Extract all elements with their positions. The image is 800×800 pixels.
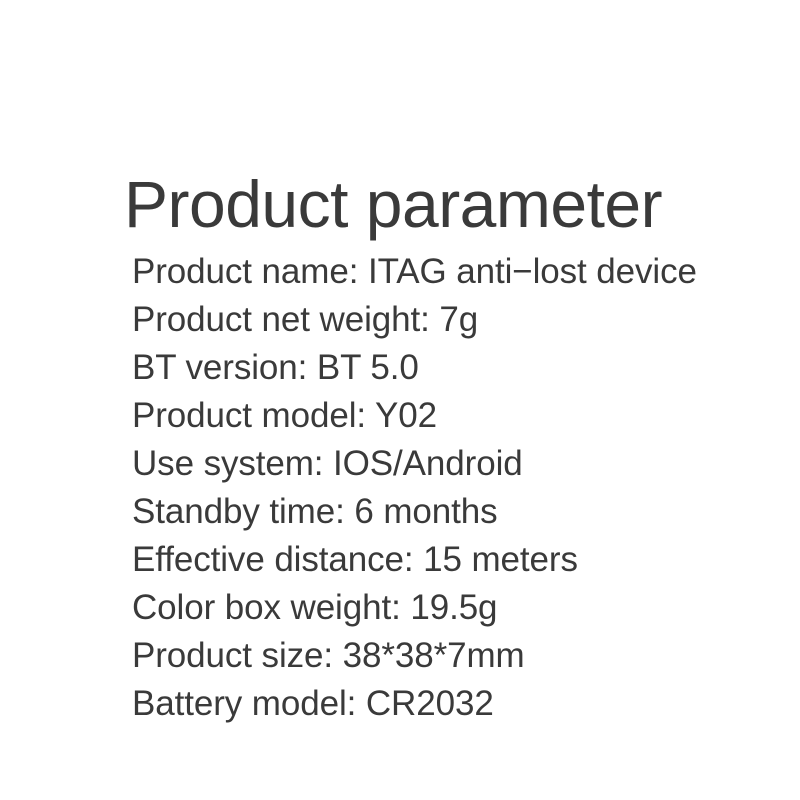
- list-item: Battery model: CR2032: [132, 680, 772, 728]
- list-item: Effective distance: 15 meters: [132, 536, 772, 584]
- list-item: Product net weight: 7g: [132, 296, 772, 344]
- list-item: Product name: ITAG anti−lost device: [132, 248, 772, 296]
- product-parameter-page: Product parameter Product name: ITAG ant…: [0, 0, 800, 800]
- spec-list: Product name: ITAG anti−lost device Prod…: [132, 248, 772, 728]
- list-item: Product model: Y02: [132, 392, 772, 440]
- list-item: Color box weight: 19.5g: [132, 584, 772, 632]
- list-item: Standby time: 6 months: [132, 488, 772, 536]
- list-item: Use system: IOS/Android: [132, 440, 772, 488]
- list-item: Product size: 38*38*7mm: [132, 632, 772, 680]
- page-title: Product parameter: [124, 171, 662, 237]
- list-item: BT version: BT 5.0: [132, 344, 772, 392]
